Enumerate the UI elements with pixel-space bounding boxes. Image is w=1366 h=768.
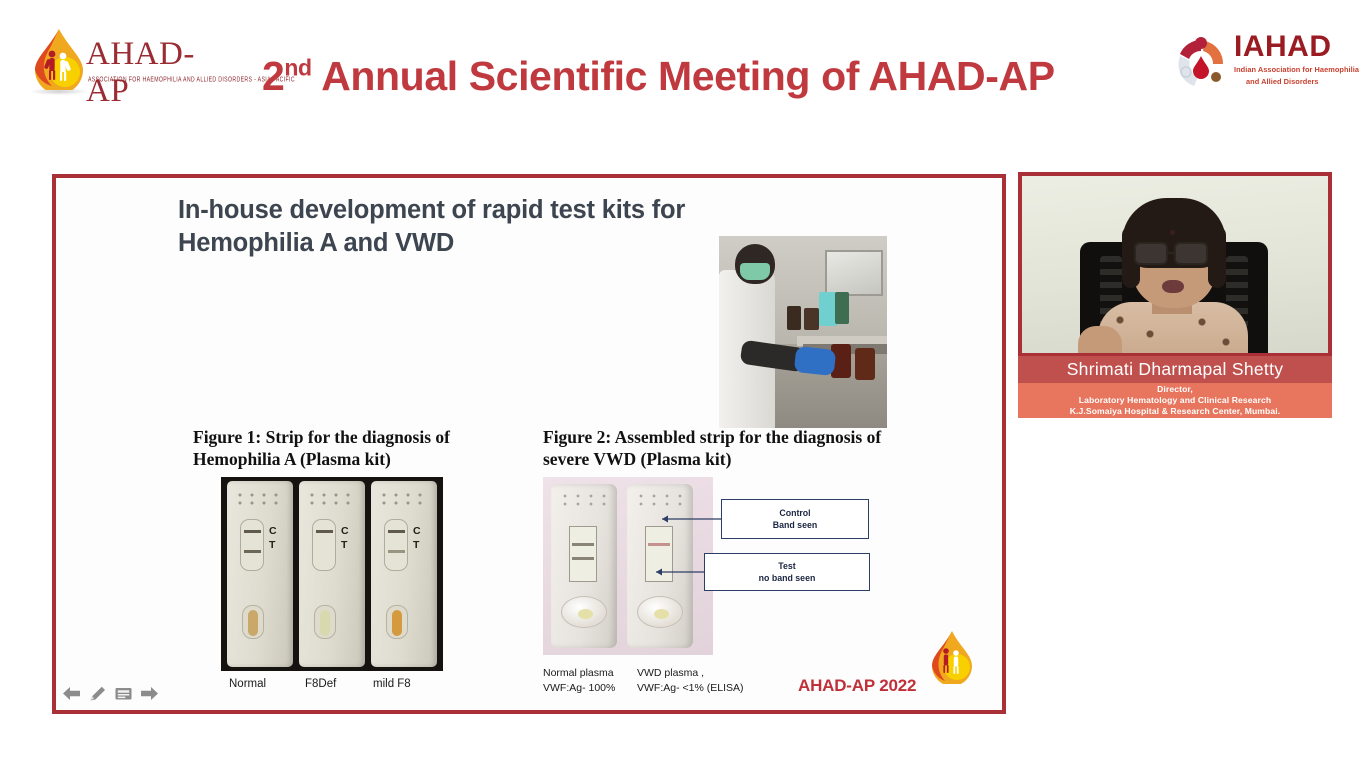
- test-cassette: C T: [227, 481, 293, 667]
- cassette-texture: [308, 491, 352, 507]
- blood-drop-people-icon: [930, 630, 974, 684]
- iahad-tagline-line2: and Allied Disorders: [1246, 77, 1319, 86]
- eyeglasses-lens-right: [1174, 242, 1208, 265]
- cassette-texture: [380, 491, 424, 507]
- slide-footer-text: AHAD-AP 2022: [798, 676, 916, 696]
- speaker-bindi: [1170, 230, 1175, 235]
- control-band: [244, 530, 261, 533]
- control-band: [572, 543, 594, 546]
- sample-well: [386, 605, 408, 639]
- figure1-sample-labels: Normal F8Def mild F8: [221, 678, 451, 698]
- slide-notes-icon[interactable]: [113, 684, 134, 703]
- annotation-line1: Control: [722, 507, 868, 519]
- speaker-name-plate: Shrimati Dharmapal Shetty Director, Labo…: [1018, 356, 1332, 418]
- sample-fill: [578, 609, 593, 619]
- iahad-tagline-line1: Indian Association for Haemophilia: [1234, 65, 1359, 74]
- vwd-cassette-normal: [551, 484, 617, 648]
- test-label: T: [341, 539, 347, 551]
- annotate-pen-icon[interactable]: [87, 684, 108, 703]
- slide-toolbar[interactable]: [61, 682, 169, 704]
- slide-viewport[interactable]: In-house development of rapid test kits …: [52, 174, 1006, 714]
- iahad-logo: IAHAD Indian Association for Haemophilia…: [1172, 32, 1340, 96]
- figure2-caption: Figure 2: Assembled strip for the diagno…: [543, 426, 883, 470]
- speaker-role-line2: Laboratory Hematology and Clinical Resea…: [1018, 395, 1332, 406]
- cassette-texture: [637, 493, 683, 507]
- annotation-leader-lines: [652, 508, 732, 578]
- control-band: [388, 530, 405, 533]
- speaker-role-line1: Director,: [1018, 384, 1332, 395]
- photo-reagent-bottle: [835, 292, 849, 324]
- photo-reagent-bottle: [804, 308, 819, 330]
- sample-label-line1: VWD plasma ,: [637, 666, 744, 681]
- speaker-name-bar: Shrimati Dharmapal Shetty: [1018, 356, 1332, 383]
- test-label: T: [413, 539, 419, 551]
- sample-well: [242, 605, 264, 639]
- test-cassette: C T: [299, 481, 365, 667]
- previous-slide-icon[interactable]: [61, 684, 82, 703]
- speaker-name: Shrimati Dharmapal Shetty: [1067, 359, 1284, 380]
- presentation-screen: AHAD-AP ASSOCIATION FOR HAEMOPHILIA AND …: [0, 0, 1366, 768]
- sample-label-line1: Normal plasma: [543, 666, 615, 681]
- blood-drop-people-icon: [32, 28, 86, 90]
- sample-label: Normal: [229, 678, 266, 690]
- slide-footer-mark: AHAD-AP 2022: [798, 630, 968, 704]
- speaker-mouth: [1162, 280, 1184, 293]
- photo-blue-glove: [794, 346, 836, 376]
- photo-reagent-bottle: [787, 306, 801, 330]
- test-band: [388, 550, 405, 553]
- next-slide-icon[interactable]: [139, 684, 160, 703]
- sample-well: [561, 596, 607, 628]
- result-window: [240, 519, 264, 571]
- test-band: [244, 550, 261, 553]
- control-label: C: [341, 525, 349, 537]
- control-band: [316, 530, 333, 533]
- sample-fill: [320, 610, 330, 636]
- cassette-texture: [236, 491, 280, 507]
- sample-well: [314, 605, 336, 639]
- sample-label-line2: VWF:Ag- <1% (ELISA): [637, 681, 744, 696]
- sample-label: mild F8: [373, 678, 411, 690]
- result-window: [384, 519, 408, 571]
- figure1-caption: Figure 1: Strip for the diagnosis of Hem…: [193, 426, 513, 470]
- annotation-control-box: Control Band seen: [721, 499, 869, 539]
- control-label: C: [269, 525, 277, 537]
- photo-window: [825, 250, 883, 296]
- test-band: [572, 557, 594, 560]
- page-header: AHAD-AP ASSOCIATION FOR HAEMOPHILIA AND …: [0, 0, 1366, 140]
- lab-technician-photo: [719, 236, 887, 428]
- result-window: [569, 526, 597, 582]
- speaker-hand: [1078, 326, 1122, 357]
- cassette-texture: [561, 493, 607, 507]
- speaker-role-line3: K.J.Somaiya Hospital & Research Center, …: [1018, 406, 1332, 417]
- sample-label: F8Def: [305, 678, 336, 690]
- slide-title: In-house development of rapid test kits …: [178, 194, 798, 260]
- sample-label-group: VWD plasma , VWF:Ag- <1% (ELISA): [637, 666, 744, 696]
- page-title-ordinal: nd: [284, 54, 311, 80]
- ahad-ap-logo: AHAD-AP ASSOCIATION FOR HAEMOPHILIA AND …: [28, 28, 228, 100]
- page-title: 2nd Annual Scientific Meeting of AHAD-AP: [262, 48, 1132, 104]
- sample-label-group: Normal plasma VWF:Ag- 100%: [543, 666, 615, 696]
- control-label: C: [413, 525, 421, 537]
- slide-content: In-house development of rapid test kits …: [56, 178, 1002, 710]
- iahad-people-drop-icon: [1172, 34, 1230, 92]
- test-cassette: C T: [371, 481, 437, 667]
- speaker-role-bar: Director, Laboratory Hematology and Clin…: [1018, 383, 1332, 418]
- eyeglasses-lens-left: [1134, 242, 1168, 265]
- speaker-webcam-video: [1022, 176, 1328, 353]
- figure1-photo: C T C T: [221, 477, 443, 671]
- speaker-hair-side: [1208, 226, 1226, 288]
- iahad-wordmark: IAHAD: [1234, 30, 1332, 64]
- sample-label-line2: VWF:Ag- 100%: [543, 681, 615, 696]
- sample-fill: [248, 610, 258, 636]
- test-label: T: [269, 539, 275, 551]
- ahad-ap-wordmark: AHAD-AP: [86, 36, 228, 110]
- annotation-line2: Band seen: [722, 519, 868, 531]
- photo-reagent-bottle: [855, 348, 875, 380]
- page-title-rest: Annual Scientific Meeting of AHAD-AP: [312, 53, 1055, 99]
- speaker-video-tile[interactable]: [1018, 172, 1332, 357]
- photo-face-mask: [740, 263, 770, 280]
- sample-fill: [654, 609, 669, 619]
- sample-well: [637, 596, 683, 628]
- sample-fill: [392, 610, 402, 636]
- eyeglasses-bridge: [1168, 252, 1176, 254]
- result-window: [312, 519, 336, 571]
- page-title-number: 2: [262, 53, 284, 99]
